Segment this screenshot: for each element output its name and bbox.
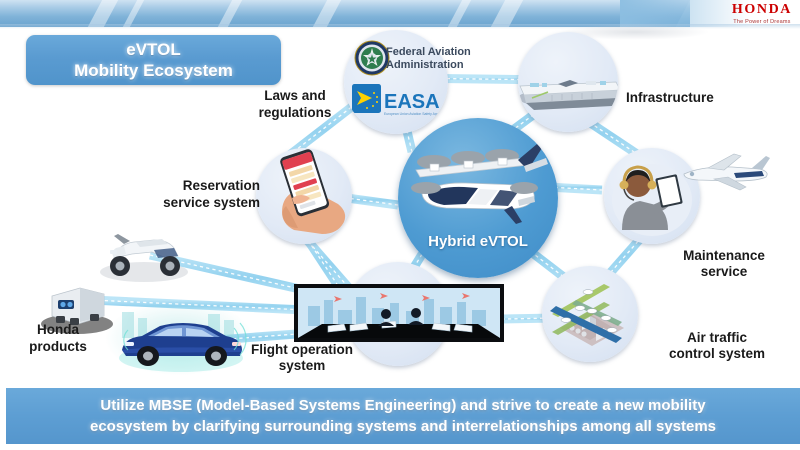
slide-caption: Utilize MBSE (Model-Based Systems Engine… bbox=[6, 388, 800, 444]
vertiport-icon bbox=[518, 54, 618, 114]
blue-sedan-icon bbox=[108, 306, 254, 376]
node-label-honda-products-line2: products bbox=[6, 339, 110, 355]
caption-line2: ecosystem by clarifying surrounding syst… bbox=[90, 416, 716, 437]
easa-chevron-icon: EASA European Union Aviation Safety Agen… bbox=[352, 82, 444, 120]
node-label-hybrid-evtol: Hybrid eVTOL bbox=[398, 234, 558, 250]
caption-line1: Utilize MBSE (Model-Based Systems Engine… bbox=[100, 395, 705, 416]
faa-name-line1: Federal Aviation bbox=[386, 46, 496, 59]
node-label-maintenance-line1: Maintenance bbox=[648, 248, 800, 264]
faa-name-line2: Administration bbox=[386, 59, 496, 72]
node-label-atc-line2: control system bbox=[642, 346, 792, 362]
node-label-laws-line2: regulations bbox=[232, 105, 358, 121]
faa-text-anchor bbox=[44, 46, 45, 47]
faa-seal-icon bbox=[354, 40, 390, 76]
svg-text:EASA: EASA bbox=[384, 91, 440, 113]
electric-scooter-icon bbox=[92, 222, 196, 284]
node-label-infrastructure: Infrastructure bbox=[626, 90, 776, 106]
node-air-traffic-control[interactable] bbox=[542, 266, 638, 362]
node-label-atc-line1: Air traffic bbox=[642, 330, 792, 346]
node-label-honda-products-line1: Honda bbox=[6, 322, 110, 338]
maintenance-aircraft-icon bbox=[678, 146, 774, 198]
control-room-icon bbox=[294, 284, 504, 342]
airspace-corridor-icon bbox=[546, 270, 634, 358]
node-label-reservation-line1: Reservation bbox=[140, 178, 260, 194]
node-label-maintenance-line2: service bbox=[648, 264, 800, 280]
node-label-laws-line1: Laws and bbox=[232, 88, 358, 104]
hand-smartphone-icon bbox=[260, 148, 352, 244]
evtol-aircraft-icon bbox=[406, 136, 552, 232]
node-hybrid-evtol[interactable]: Hybrid eVTOL bbox=[398, 118, 558, 278]
node-reservation-service[interactable] bbox=[256, 148, 352, 244]
node-infrastructure[interactable] bbox=[518, 32, 618, 132]
svg-text:European Union Aviation Safety: European Union Aviation Safety Agency bbox=[384, 112, 444, 116]
slide-root: HONDA The Power of Dreams eVTOL Mobility… bbox=[0, 0, 800, 450]
node-label-reservation-line2: service system bbox=[128, 195, 260, 211]
